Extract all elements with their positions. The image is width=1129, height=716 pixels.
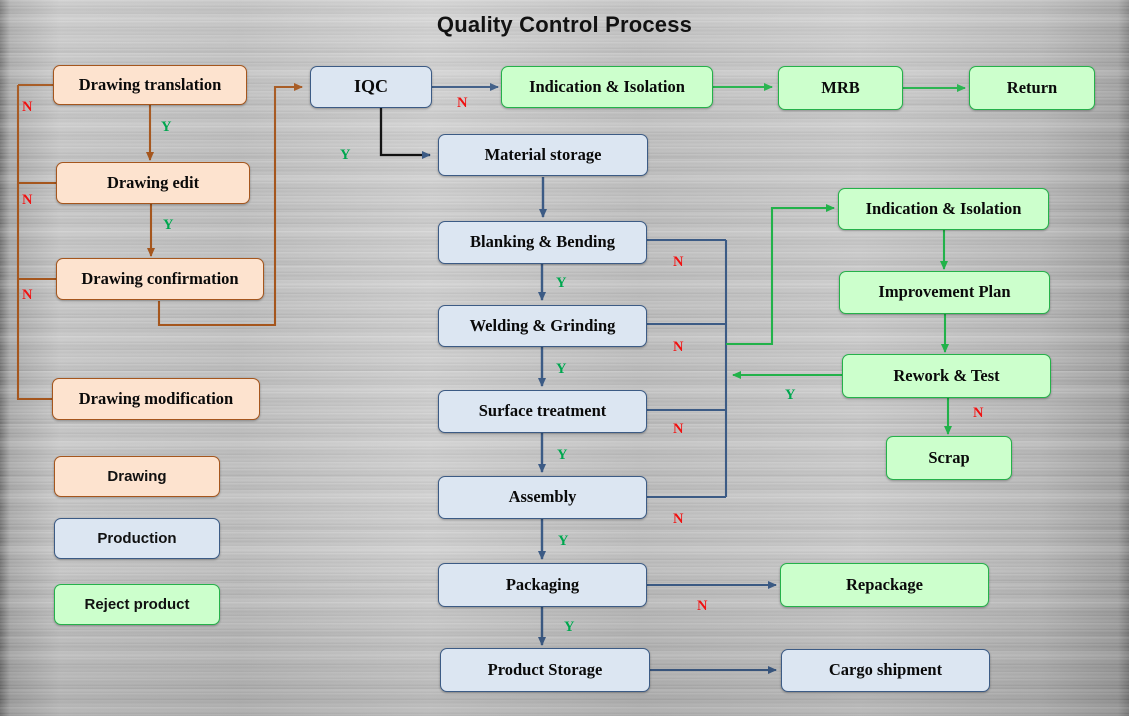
node-drawing-edit[interactable]: Drawing edit xyxy=(56,162,250,204)
node-improvement-plan[interactable]: Improvement Plan xyxy=(839,271,1050,314)
node-cargo-shipment[interactable]: Cargo shipment xyxy=(781,649,990,692)
edge-label-y-translation: Y xyxy=(161,119,171,136)
edge-label-n-rework: N xyxy=(973,405,983,422)
edge-label-n-iqc: N xyxy=(457,95,467,112)
node-surface-treatment[interactable]: Surface treatment xyxy=(438,390,647,433)
page-title: Quality Control Process xyxy=(0,12,1129,38)
legend-item-production: Production xyxy=(54,518,220,559)
edge-label-y-packaging: Y xyxy=(564,619,574,636)
edge-label-y-blanking: Y xyxy=(556,275,566,292)
node-repackage[interactable]: Repackage xyxy=(780,563,989,607)
legend-item-reject-product: Reject product xyxy=(54,584,220,625)
node-blanking-bending[interactable]: Blanking & Bending xyxy=(438,221,647,264)
edge-iqc-material xyxy=(381,108,430,155)
legend-item-drawing: Drawing xyxy=(54,456,220,497)
edge-label-y-welding: Y xyxy=(556,361,566,378)
edge-label-y-iqc: Y xyxy=(340,147,350,164)
edge-label-n-confirmation: N xyxy=(22,287,32,304)
edge-label-y-surface: Y xyxy=(557,447,567,464)
node-material-storage[interactable]: Material storage xyxy=(438,134,648,176)
node-welding-grinding[interactable]: Welding & Grinding xyxy=(438,305,647,347)
node-return[interactable]: Return xyxy=(969,66,1095,110)
node-scrap[interactable]: Scrap xyxy=(886,436,1012,480)
node-indication-isolation-right[interactable]: Indication & Isolation xyxy=(838,188,1049,230)
node-drawing-translation[interactable]: Drawing translation xyxy=(53,65,247,105)
node-product-storage[interactable]: Product Storage xyxy=(440,648,650,692)
node-mrb[interactable]: MRB xyxy=(778,66,903,110)
edge-label-n-blanking: N xyxy=(673,254,683,271)
edge-label-y-assembly: Y xyxy=(558,533,568,550)
edge-label-n-translation: N xyxy=(22,99,32,116)
edge-label-n-welding: N xyxy=(673,339,683,356)
edge-label-y-edit: Y xyxy=(163,217,173,234)
node-drawing-confirmation[interactable]: Drawing confirmation xyxy=(56,258,264,300)
node-rework-test[interactable]: Rework & Test xyxy=(842,354,1051,398)
node-assembly[interactable]: Assembly xyxy=(438,476,647,519)
node-drawing-modification[interactable]: Drawing modification xyxy=(52,378,260,420)
node-packaging[interactable]: Packaging xyxy=(438,563,647,607)
edge-collector-indication-right xyxy=(726,208,834,344)
node-iqc[interactable]: IQC xyxy=(310,66,432,108)
edge-label-y-rework: Y xyxy=(785,387,795,404)
edge-label-n-assembly: N xyxy=(673,511,683,528)
edge-label-n-surface: N xyxy=(673,421,683,438)
edge-n-collector-drawing xyxy=(18,85,140,399)
node-indication-isolation-top[interactable]: Indication & Isolation xyxy=(501,66,713,108)
flowchart-canvas: Quality Control Process xyxy=(0,0,1129,716)
edge-label-n-packaging: N xyxy=(697,598,707,615)
edge-label-n-edit: N xyxy=(22,192,32,209)
